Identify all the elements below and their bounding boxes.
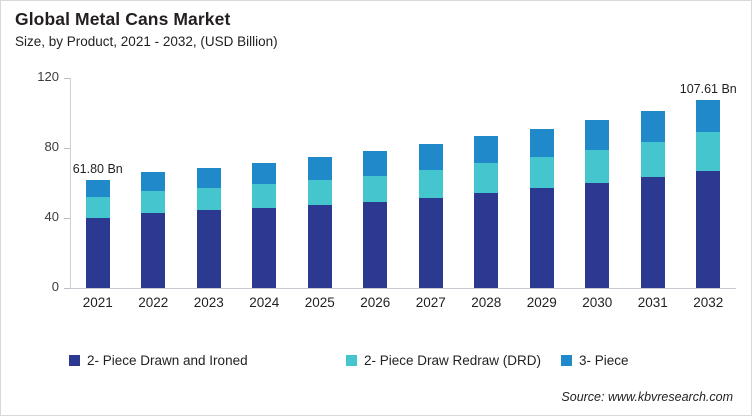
bar-segment[interactable]	[197, 210, 221, 288]
bar-segment[interactable]	[641, 111, 665, 143]
bar-segment[interactable]	[419, 170, 443, 197]
y-axis-tick	[64, 288, 70, 289]
bar-segment[interactable]	[530, 188, 554, 288]
y-axis-tick-label: 80	[17, 139, 59, 154]
bar-segment[interactable]	[197, 188, 221, 211]
x-axis-tick-labels: 2021202220232024202520262027202820292030…	[70, 295, 736, 317]
x-axis-tick-label: 2021	[72, 295, 124, 310]
bar-segment[interactable]	[141, 213, 165, 288]
bar-group[interactable]	[530, 129, 554, 288]
source-attribution: Source: www.kbvresearch.com	[561, 390, 733, 404]
bar-segment[interactable]	[363, 176, 387, 202]
x-axis-line	[70, 288, 736, 289]
x-axis-tick-label: 2030	[571, 295, 623, 310]
x-axis-tick-label: 2025	[294, 295, 346, 310]
bar-segment[interactable]	[308, 157, 332, 180]
bar-segment[interactable]	[308, 205, 332, 288]
bar-segment[interactable]	[696, 132, 720, 171]
bar-segment[interactable]	[585, 120, 609, 150]
legend-label: 3- Piece	[579, 353, 629, 368]
bar-segment[interactable]	[530, 129, 554, 157]
bar-segment[interactable]	[419, 198, 443, 288]
x-axis-tick-label: 2031	[627, 295, 679, 310]
bar-series-area	[70, 78, 736, 288]
chart-container: Global Metal Cans Market Size, by Produc…	[1, 1, 751, 415]
legend-swatch-icon	[69, 355, 80, 366]
bar-segment[interactable]	[696, 100, 720, 133]
bar-segment[interactable]	[363, 202, 387, 288]
x-axis-tick-label: 2027	[405, 295, 457, 310]
legend-item[interactable]: 2- Piece Draw Redraw (DRD)	[346, 353, 541, 368]
bar-segment[interactable]	[696, 171, 720, 288]
x-axis-tick-label: 2023	[183, 295, 235, 310]
legend-swatch-icon	[561, 355, 572, 366]
bar-segment[interactable]	[308, 180, 332, 205]
bar-group[interactable]	[696, 100, 720, 288]
bar-segment[interactable]	[141, 172, 165, 191]
y-axis-tick-label: 0	[17, 279, 59, 294]
bar-value-label: 107.61 Bn	[663, 82, 752, 96]
x-axis-tick-label: 2026	[349, 295, 401, 310]
bar-segment[interactable]	[530, 157, 554, 188]
bar-segment[interactable]	[363, 151, 387, 176]
bar-segment[interactable]	[585, 150, 609, 183]
bar-segment[interactable]	[86, 218, 110, 288]
x-axis-tick-label: 2024	[238, 295, 290, 310]
legend-item[interactable]: 3- Piece	[561, 353, 629, 368]
bar-group[interactable]	[308, 157, 332, 288]
bar-group[interactable]	[197, 168, 221, 288]
bar-segment[interactable]	[641, 177, 665, 288]
y-axis-tick-label: 120	[17, 69, 59, 84]
bar-segment[interactable]	[585, 183, 609, 288]
legend-label: 2- Piece Draw Redraw (DRD)	[364, 353, 541, 368]
bar-segment[interactable]	[419, 144, 443, 170]
legend-swatch-icon	[346, 355, 357, 366]
bar-group[interactable]	[363, 151, 387, 288]
legend-item[interactable]: 2- Piece Drawn and Ironed	[69, 353, 248, 368]
x-axis-tick-label: 2022	[127, 295, 179, 310]
bar-group[interactable]	[419, 144, 443, 288]
bar-segment[interactable]	[141, 191, 165, 213]
bar-segment[interactable]	[641, 142, 665, 177]
bar-segment[interactable]	[252, 208, 276, 288]
bar-group[interactable]	[585, 120, 609, 288]
bar-group[interactable]	[641, 111, 665, 288]
bar-group[interactable]	[474, 136, 498, 288]
bar-segment[interactable]	[474, 193, 498, 288]
bar-segment[interactable]	[197, 168, 221, 188]
y-axis-tick-label: 40	[17, 209, 59, 224]
bar-segment[interactable]	[474, 163, 498, 192]
x-axis-tick-label: 2028	[460, 295, 512, 310]
bar-group[interactable]	[252, 163, 276, 288]
bar-segment[interactable]	[252, 184, 276, 208]
bar-segment[interactable]	[86, 180, 110, 197]
legend-label: 2- Piece Drawn and Ironed	[87, 353, 248, 368]
bar-group[interactable]	[86, 180, 110, 288]
bar-group[interactable]	[141, 172, 165, 288]
x-axis-tick-label: 2032	[682, 295, 734, 310]
bar-value-label: 61.80 Bn	[53, 162, 143, 176]
chart-legend: 2- Piece Drawn and Ironed2- Piece Draw R…	[1, 353, 751, 375]
bar-segment[interactable]	[252, 163, 276, 184]
bar-segment[interactable]	[474, 136, 498, 163]
x-axis-tick-label: 2029	[516, 295, 568, 310]
bar-segment[interactable]	[86, 197, 110, 218]
